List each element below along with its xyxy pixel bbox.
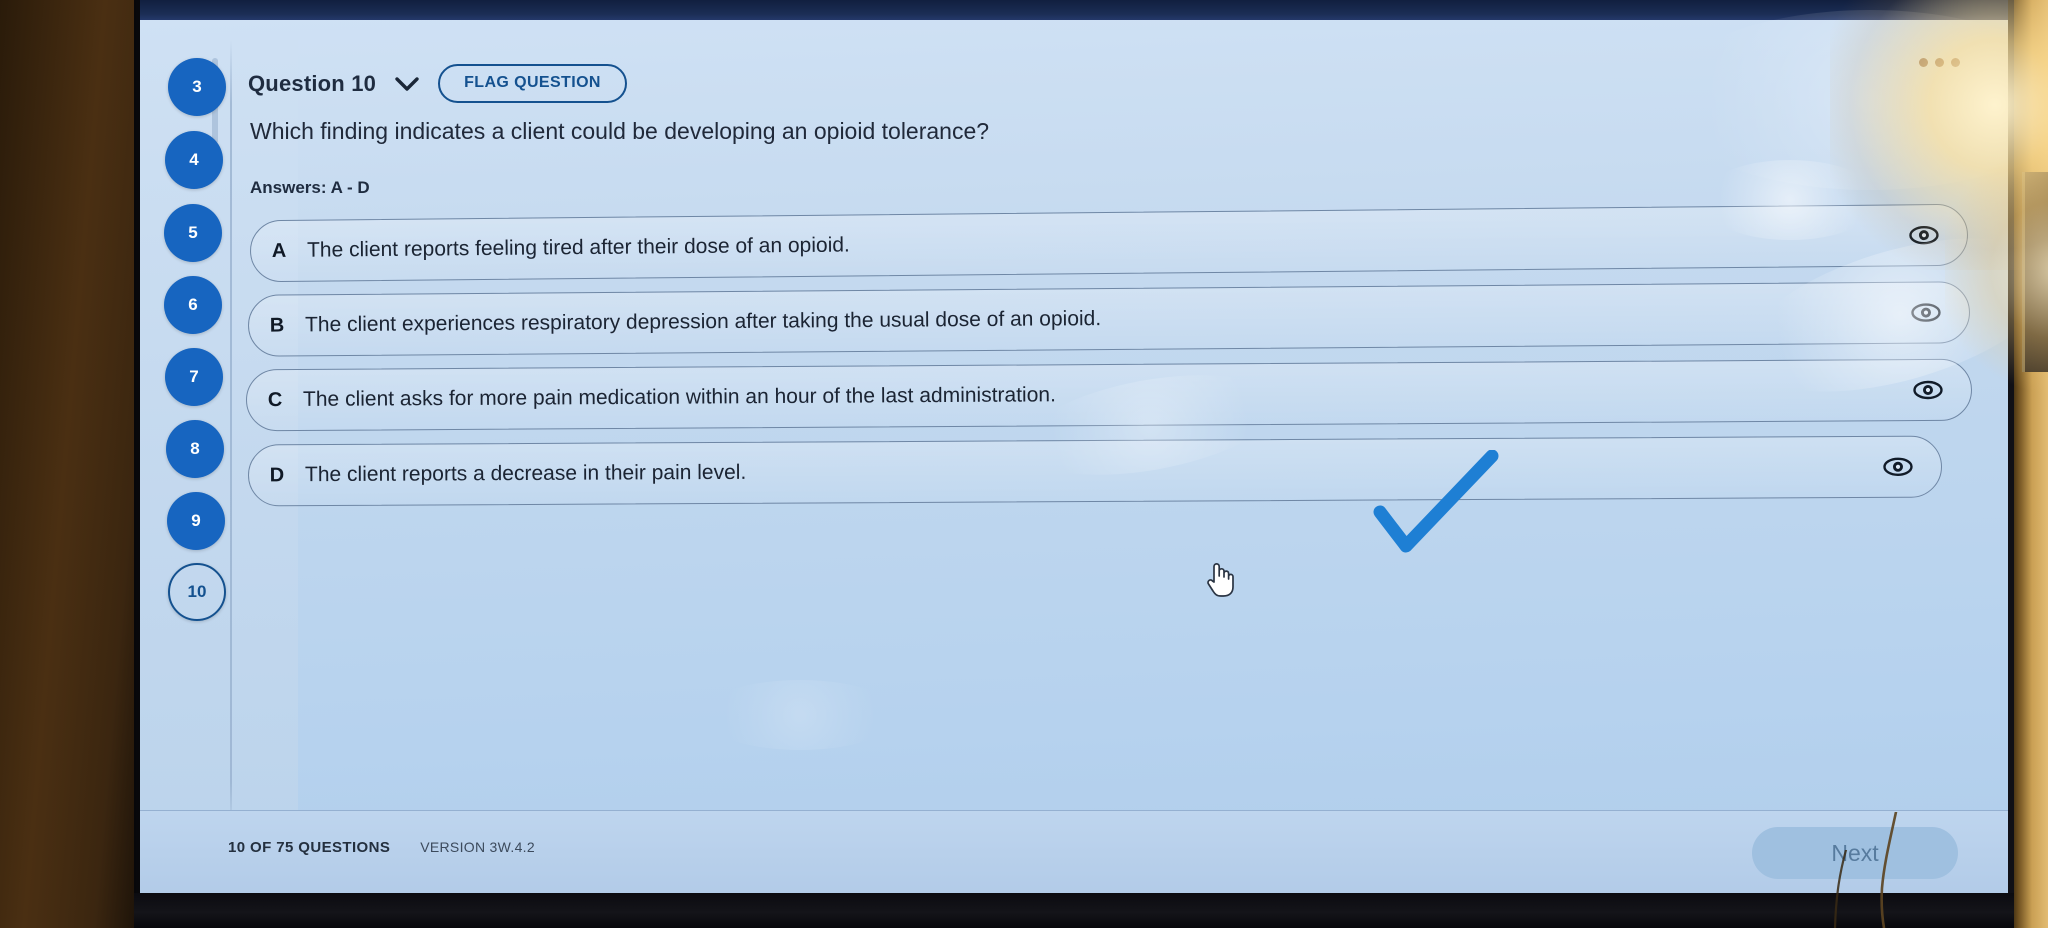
sidebar-item-question-9[interactable]: 9 [167, 492, 225, 550]
kebab-dot [1951, 58, 1960, 67]
sidebar-item-question-5[interactable]: 5 [164, 204, 222, 262]
answer-option-b[interactable]: B The client experiences respiratory dep… [248, 281, 1970, 357]
answer-option-d[interactable]: D The client reports a decrease in their… [248, 436, 1942, 507]
option-letter: C [247, 388, 303, 411]
version-label: VERSION 3W.4.2 [420, 839, 535, 855]
option-letter: D [249, 464, 305, 487]
sidebar-item-label: 9 [191, 511, 200, 531]
sidebar-item-label: 10 [188, 582, 207, 602]
photo-of-monitor: · · · 3 4 5 6 7 [0, 0, 2048, 928]
mouse-cursor-pointer [1203, 558, 1235, 598]
sidebar-item-question-10[interactable]: 10 [168, 563, 226, 621]
sidebar-item-question-8[interactable]: 8 [166, 420, 224, 478]
monitor-bezel-bottom [134, 893, 2014, 928]
wall-picture-frame [2022, 172, 2048, 372]
sidebar-item-label: 6 [188, 295, 197, 315]
sidebar-item-label: 5 [188, 223, 197, 243]
app-header-title: · · · [512, 0, 535, 6]
answer-option-c[interactable]: C The client asks for more pain medicati… [246, 359, 1972, 432]
answers-range-label: Answers: A - D [250, 178, 370, 198]
monitor-screen: · · · 3 4 5 6 7 [140, 0, 2008, 896]
room-background-left [0, 0, 152, 928]
answer-option-a[interactable]: A The client reports feeling tired after… [250, 204, 1969, 282]
answer-options-list: A The client reports feeling tired after… [246, 212, 1972, 516]
option-text: The client experiences respiratory depre… [305, 301, 1883, 337]
question-counter: 10 OF 75 QUESTIONS [228, 839, 390, 856]
sidebar-item-label: 7 [189, 367, 198, 387]
option-text: The client reports feeling tired after t… [307, 224, 1881, 263]
option-letter: A [251, 239, 307, 263]
quiz-content-surface: 3 4 5 6 7 8 9 [140, 20, 2008, 896]
sidebar-item-label: 4 [189, 150, 198, 170]
kebab-dot [1935, 58, 1944, 67]
next-button[interactable]: Next [1752, 827, 1958, 879]
eye-icon[interactable] [1855, 457, 1941, 477]
flag-question-button[interactable]: FLAG QUESTION [438, 64, 627, 103]
option-text: The client reports a decrease in their p… [305, 455, 1855, 487]
sidebar-divider [230, 40, 232, 830]
eye-icon[interactable] [1885, 380, 1971, 401]
sidebar-item-question-7[interactable]: 7 [165, 348, 223, 406]
app-header-bar: · · · [140, 0, 2008, 20]
question-header-row: Question 10 FLAG QUESTION [248, 64, 627, 103]
chevron-down-icon[interactable] [394, 76, 420, 94]
question-stem-text: Which finding indicates a client could b… [250, 116, 1650, 147]
room-background-right [2008, 0, 2048, 928]
option-text: The client asks for more pain medication… [303, 378, 1885, 412]
sidebar-item-question-6[interactable]: 6 [164, 276, 222, 334]
option-letter: B [249, 314, 305, 337]
eye-icon[interactable] [1883, 302, 1969, 323]
sidebar-item-label: 3 [192, 77, 201, 97]
page-title: Question 10 [248, 71, 376, 97]
sidebar-item-label: 8 [190, 439, 199, 459]
quiz-footer: 10 OF 75 QUESTIONS VERSION 3W.4.2 Next [140, 810, 2008, 896]
footer-meta: 10 OF 75 QUESTIONS VERSION 3W.4.2 [228, 839, 535, 856]
overflow-menu-icon[interactable] [1919, 58, 1960, 67]
sidebar-item-question-4[interactable]: 4 [165, 131, 223, 189]
eye-icon[interactable] [1881, 225, 1967, 246]
kebab-dot [1919, 58, 1928, 67]
sidebar-item-question-3[interactable]: 3 [168, 58, 226, 116]
